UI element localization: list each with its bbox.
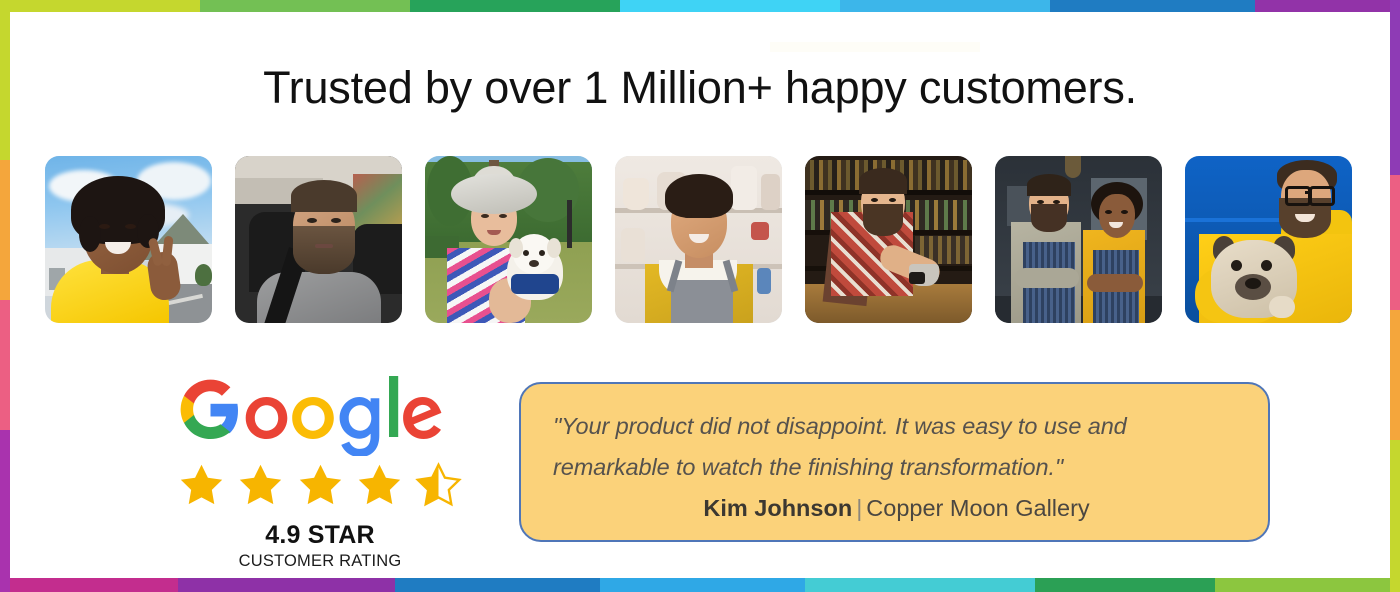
frame-segment-blue — [1050, 0, 1255, 12]
rating-caption: CUSTOMER RATING — [155, 552, 485, 571]
frame-segment-orange — [0, 160, 10, 300]
frame-segment-sky-blue — [840, 0, 1050, 12]
frame-bottom-strip — [0, 578, 1400, 592]
frame-left-strip — [0, 0, 10, 592]
frame-segment-orange — [1390, 310, 1400, 440]
testimonial-card: "Your product did not disappoint. It was… — [519, 382, 1270, 542]
customer-photo-7 — [1185, 156, 1352, 323]
google-rating-block: 4.9 STAR CUSTOMER RATING — [155, 364, 485, 571]
testimonial-author: Kim Johnson — [703, 495, 852, 521]
frame-segment-green — [200, 0, 410, 12]
frame-segment-green — [1035, 578, 1215, 592]
frame-segment-cyan — [620, 0, 840, 12]
frame-segment-pink — [1390, 175, 1400, 310]
frame-segment-lime — [0, 0, 10, 160]
attribution-separator: | — [852, 495, 866, 521]
quote-line-1: "Your product did not disappoint. It was… — [553, 413, 1127, 439]
frame-segment-lime — [1390, 440, 1400, 592]
frame-segment-magenta — [0, 578, 178, 592]
star-icon-3 — [293, 460, 348, 512]
frame-segment-blue — [395, 578, 600, 592]
background-artifact — [770, 42, 980, 52]
customer-photo-1 — [45, 156, 212, 323]
star-icon-2 — [233, 460, 288, 512]
frame-segment-cyan — [805, 578, 1035, 592]
google-logo-icon — [180, 364, 460, 456]
frame-segment-purple — [1255, 0, 1400, 12]
frame-top-strip — [0, 0, 1400, 12]
customer-photo-5 — [805, 156, 972, 323]
frame-segment-dark-green — [410, 0, 620, 12]
testimonial-banner: Trusted by over 1 Million+ happy custome… — [0, 0, 1400, 592]
customer-photo-3 — [425, 156, 592, 323]
frame-segment-pink — [0, 300, 10, 430]
frame-segment-lime — [0, 0, 200, 12]
frame-segment-lime — [1215, 578, 1400, 592]
customer-photo-6 — [995, 156, 1162, 323]
testimonial-organization: Copper Moon Gallery — [866, 495, 1089, 521]
rating-score-label: 4.9 STAR — [155, 521, 485, 550]
frame-segment-purple — [1390, 0, 1400, 175]
star-icon-1 — [174, 460, 229, 512]
customer-photo-2 — [235, 156, 402, 323]
frame-segment-sky-blue — [600, 578, 805, 592]
quote-line-2: remarkable to watch the finishing transf… — [553, 454, 1063, 480]
page-title: Trusted by over 1 Million+ happy custome… — [10, 60, 1390, 116]
star-icon-4 — [352, 460, 407, 512]
star-icon-5-half — [411, 460, 466, 512]
star-rating — [155, 460, 485, 512]
customer-photo-row — [45, 156, 1355, 324]
frame-segment-purple — [178, 578, 395, 592]
content-panel: Trusted by over 1 Million+ happy custome… — [10, 12, 1390, 578]
frame-segment-purple — [0, 430, 10, 592]
customer-photo-4 — [615, 156, 782, 323]
testimonial-quote: "Your product did not disappoint. It was… — [553, 406, 1240, 488]
frame-right-strip — [1390, 0, 1400, 592]
testimonial-attribution: Kim Johnson|Copper Moon Gallery — [553, 495, 1240, 522]
